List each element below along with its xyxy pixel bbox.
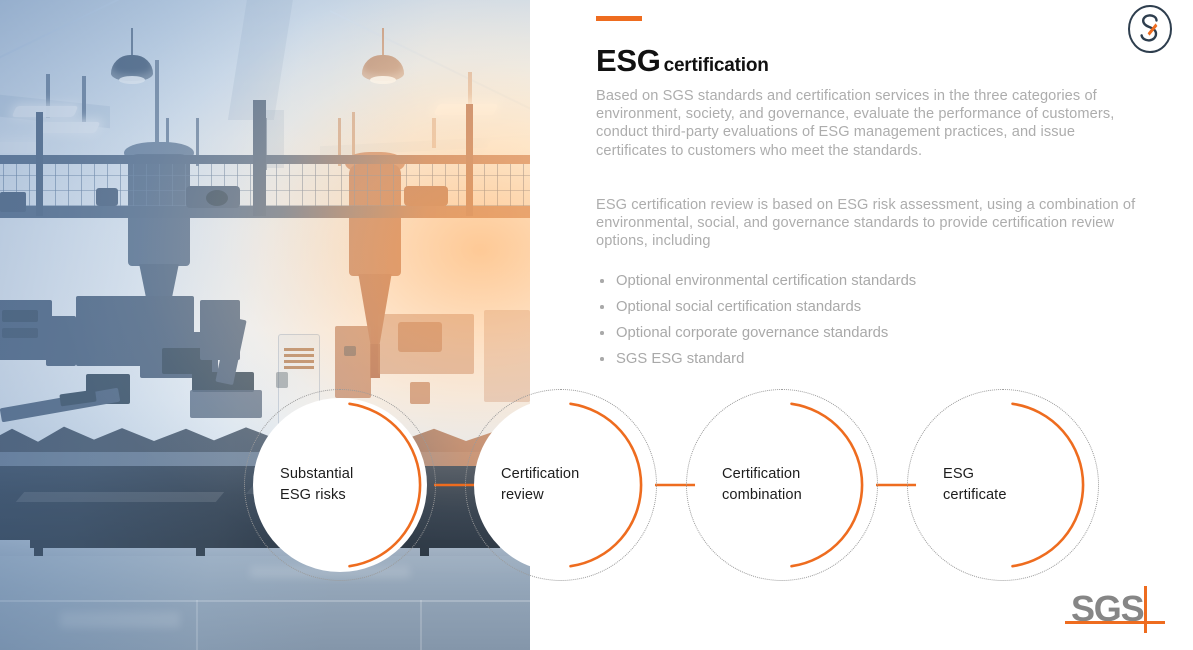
list-item: Optional corporate governance standards <box>596 320 1116 346</box>
list-item: Optional environmental certification sta… <box>596 268 1116 294</box>
title-secondary: certification <box>664 55 769 76</box>
list-item-label: Optional corporate governance standards <box>616 325 888 341</box>
bullet-dot-icon <box>600 331 604 335</box>
intro-paragraph-2: ESG certification review is based on ESG… <box>596 196 1136 251</box>
list-item: SGS ESG standard <box>596 346 1116 372</box>
list-item-label: Optional environmental certification sta… <box>616 273 916 289</box>
sgs-logo-horizontal-bar <box>1065 621 1165 624</box>
factory-interior-photo <box>0 0 530 650</box>
sgs-logo-vertical-bar <box>1144 586 1147 633</box>
list-item-label: SGS ESG standard <box>616 351 744 367</box>
sgs-circle-logo-icon <box>1125 4 1175 54</box>
list-item: Optional social certification standards <box>596 294 1116 320</box>
title-primary: ESG <box>596 43 661 78</box>
bullet-dot-icon <box>600 357 604 361</box>
bullet-dot-icon <box>600 305 604 309</box>
accent-dash <box>596 16 642 21</box>
list-item-label: Optional social certification standards <box>616 299 861 315</box>
page-title: ESGcertification <box>596 42 769 79</box>
intro-paragraph-1: Based on SGS standards and certification… <box>596 87 1131 160</box>
content-panel: ESGcertification Based on SGS standards … <box>530 0 1193 650</box>
certification-standards-list: Optional environmental certification sta… <box>596 268 1116 372</box>
sgs-wordmark-logo: SGS <box>1065 586 1175 636</box>
bullet-dot-icon <box>600 279 604 283</box>
